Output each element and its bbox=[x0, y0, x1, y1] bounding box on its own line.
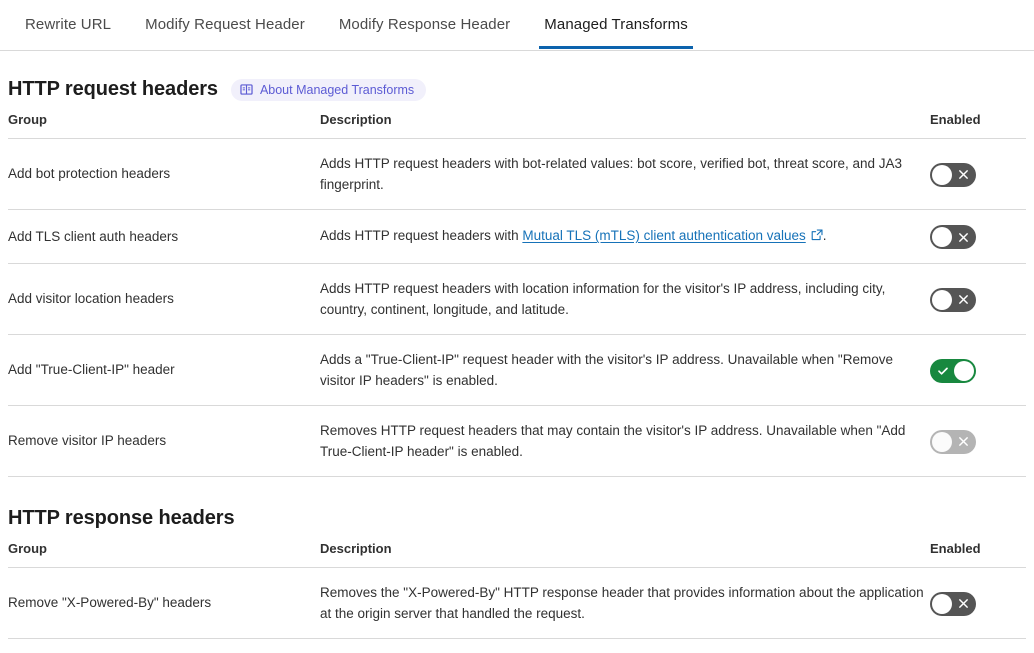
column-header-group: Group bbox=[8, 112, 320, 139]
column-header-description: Description bbox=[320, 112, 930, 139]
enabled-toggle[interactable] bbox=[930, 359, 976, 383]
row-description: Adds HTTP request headers with location … bbox=[320, 264, 930, 335]
close-icon bbox=[957, 225, 969, 249]
row-group-name: Add TLS client auth headers bbox=[8, 210, 320, 264]
column-header-enabled: Enabled bbox=[930, 112, 1026, 139]
request-headers-section-header: HTTP request headers About Managed Trans… bbox=[8, 78, 1026, 101]
row-group-name: Remove visitor IP headers bbox=[8, 406, 320, 477]
row-description: Adds HTTP request headers with Mutual TL… bbox=[320, 210, 930, 264]
table-row: Remove "X-Powered-By" headers Removes th… bbox=[8, 568, 1026, 639]
check-icon bbox=[937, 359, 949, 383]
response-headers-section-header: HTTP response headers bbox=[8, 507, 1026, 530]
enabled-toggle[interactable] bbox=[930, 163, 976, 187]
close-icon bbox=[957, 288, 969, 312]
row-enabled-cell bbox=[930, 568, 1026, 639]
close-icon bbox=[957, 430, 969, 454]
row-enabled-cell bbox=[930, 335, 1026, 406]
toggle-knob bbox=[932, 227, 952, 247]
row-group-name: Add security headers bbox=[8, 639, 320, 653]
response-headers-table: Group Description Enabled Remove "X-Powe… bbox=[8, 541, 1026, 653]
row-group-name: Add visitor location headers bbox=[8, 264, 320, 335]
close-icon bbox=[957, 592, 969, 616]
row-enabled-cell bbox=[930, 406, 1026, 477]
tab-managed-transforms[interactable]: Managed Transforms bbox=[527, 0, 705, 49]
table-row: Add "True-Client-IP" header Adds a "True… bbox=[8, 335, 1026, 406]
row-description: Adds a "True-Client-IP" request header w… bbox=[320, 335, 930, 406]
row-description: Removes HTTP request headers that may co… bbox=[320, 406, 930, 477]
enabled-toggle-disabled bbox=[930, 430, 976, 454]
row-description-suffix: . bbox=[823, 228, 827, 243]
row-group-name: Add bot protection headers bbox=[8, 139, 320, 210]
book-icon bbox=[240, 83, 253, 96]
page-content: HTTP request headers About Managed Trans… bbox=[0, 78, 1034, 653]
column-header-group: Group bbox=[8, 541, 320, 568]
table-row: Add visitor location headers Adds HTTP r… bbox=[8, 264, 1026, 335]
toggle-knob bbox=[932, 290, 952, 310]
toggle-knob bbox=[932, 165, 952, 185]
row-enabled-cell bbox=[930, 639, 1026, 653]
row-enabled-cell bbox=[930, 139, 1026, 210]
toggle-knob bbox=[932, 432, 952, 452]
tab-modify-response-header[interactable]: Modify Response Header bbox=[322, 0, 527, 49]
mtls-documentation-link[interactable]: Mutual TLS (mTLS) client authentication … bbox=[522, 228, 805, 243]
mtls-link-label: Mutual TLS (mTLS) client authentication … bbox=[522, 228, 805, 243]
enabled-toggle[interactable] bbox=[930, 288, 976, 312]
tab-bar: Rewrite URL Modify Request Header Modify… bbox=[0, 0, 1034, 51]
page-title: HTTP request headers bbox=[8, 78, 218, 101]
table-row: Add bot protection headers Adds HTTP req… bbox=[8, 139, 1026, 210]
about-managed-transforms-label: About Managed Transforms bbox=[260, 83, 414, 97]
toggle-knob bbox=[932, 594, 952, 614]
row-group-name: Add "True-Client-IP" header bbox=[8, 335, 320, 406]
table-row: Add security headers Adds several securi… bbox=[8, 639, 1026, 653]
row-description: Removes the "X-Powered-By" HTTP response… bbox=[320, 568, 930, 639]
table-row: Remove visitor IP headers Removes HTTP r… bbox=[8, 406, 1026, 477]
row-description: Adds HTTP request headers with bot-relat… bbox=[320, 139, 930, 210]
tab-rewrite-url[interactable]: Rewrite URL bbox=[8, 0, 128, 49]
table-row: Add TLS client auth headers Adds HTTP re… bbox=[8, 210, 1026, 264]
external-link-icon bbox=[811, 227, 823, 248]
tab-modify-request-header[interactable]: Modify Request Header bbox=[128, 0, 322, 49]
enabled-toggle[interactable] bbox=[930, 225, 976, 249]
close-icon bbox=[957, 163, 969, 187]
about-managed-transforms-badge[interactable]: About Managed Transforms bbox=[231, 79, 426, 101]
request-headers-table: Group Description Enabled Add bot protec… bbox=[8, 112, 1026, 477]
enabled-toggle[interactable] bbox=[930, 592, 976, 616]
toggle-knob bbox=[954, 361, 974, 381]
table-header-row: Group Description Enabled bbox=[8, 112, 1026, 139]
column-header-enabled: Enabled bbox=[930, 541, 1026, 568]
row-group-name: Remove "X-Powered-By" headers bbox=[8, 568, 320, 639]
response-headers-title: HTTP response headers bbox=[8, 507, 235, 530]
row-enabled-cell bbox=[930, 264, 1026, 335]
row-description: Adds several security-related HTTP respo… bbox=[320, 639, 930, 653]
row-enabled-cell bbox=[930, 210, 1026, 264]
column-header-description: Description bbox=[320, 541, 930, 568]
table-header-row: Group Description Enabled bbox=[8, 541, 1026, 568]
row-description-prefix: Adds HTTP request headers with bbox=[320, 228, 522, 243]
